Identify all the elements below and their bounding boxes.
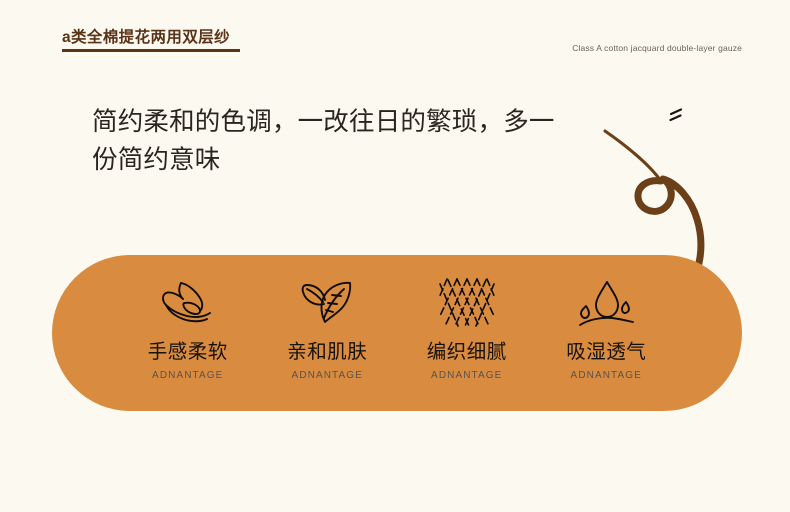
feature-label: 吸湿透气 (566, 340, 646, 364)
feature-sublabel: ADNANTAGE (292, 370, 363, 381)
feature-item-soft-touch[interactable]: 手感柔软 ADNANTAGE (118, 268, 258, 398)
feature-item-fine-weave[interactable]: 编织细腻 ADNANTAGE (397, 268, 537, 398)
feature-label: 手感柔软 (148, 340, 228, 364)
page-title: a类全棉提花两用双层纱 (62, 28, 230, 48)
feature-sublabel: ADNANTAGE (152, 370, 223, 381)
feature-sublabel: ADNANTAGE (431, 370, 502, 381)
sparkle-marks-icon (668, 107, 690, 125)
poster-canvas: a类全棉提花两用双层纱 Class A cotton jacquard doub… (0, 0, 790, 512)
feature-sublabel: ADNANTAGE (571, 370, 642, 381)
feature-label: 编织细腻 (427, 340, 507, 364)
feature-item-moisture-wicking[interactable]: 吸湿透气 ADNANTAGE (537, 268, 677, 398)
water-droplet-icon (576, 274, 636, 330)
leaf-icon (298, 274, 356, 330)
feature-label: 亲和肌肤 (287, 340, 367, 364)
features-list: 手感柔软 ADNANTAGE 亲和肌肤 ADNANTAGE (52, 255, 742, 411)
english-subtitle: Class A cotton jacquard double-layer gau… (572, 43, 742, 53)
soft-hand-icon (157, 274, 219, 330)
title-underline (62, 49, 240, 52)
feature-item-skin-friendly[interactable]: 亲和肌肤 ADNANTAGE (258, 268, 398, 398)
woven-mesh-icon (438, 274, 496, 330)
headline-text: 简约柔和的色调，一改往日的繁琐，多一份简约意味 (92, 103, 572, 179)
